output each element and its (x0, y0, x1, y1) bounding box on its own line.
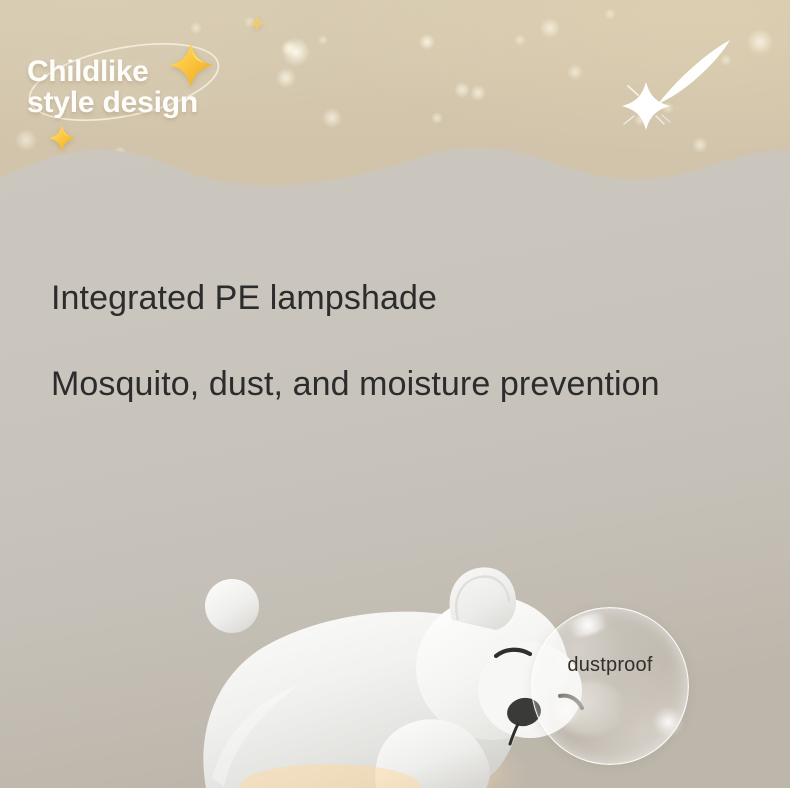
bubble-highlight-left (545, 699, 585, 725)
bubble-highlight-bottom-right (653, 707, 683, 737)
feature-copy-block: Integrated PE lampshade Mosquito, dust, … (51, 278, 751, 404)
product-poster: Childlike style design (0, 0, 790, 788)
feature-line-2: Mosquito, dust, and moisture prevention (51, 364, 751, 404)
feature-line-1: Integrated PE lampshade (51, 278, 751, 318)
dustproof-bubble: dustproof (531, 607, 689, 765)
bubble-label: dustproof (531, 654, 689, 676)
